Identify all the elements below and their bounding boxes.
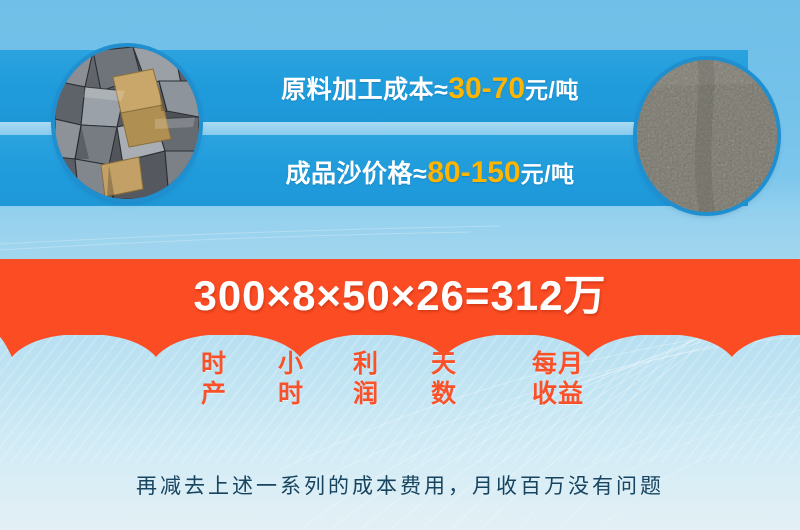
sand-price-prefix: 成品沙价格≈ — [285, 160, 427, 188]
legend-row: 时 产 小 时 利 润 天 数 每月 收益 — [0, 345, 800, 415]
formula-text: 300×8×50×26=312万 — [0, 259, 800, 333]
infographic-poster: 原料加工成本≈30-70元/吨 成品沙价格≈80-150元/吨 — [0, 0, 800, 530]
legend-item-monthly-revenue-line1: 每月 — [512, 349, 604, 379]
info-bar-raw-cost-text: 原料加工成本≈30-70元/吨 — [195, 70, 665, 106]
sand-price-unit: 元/吨 — [521, 161, 575, 187]
legend-item-profit-line1: 利 — [335, 349, 397, 379]
legend-item-hourly-output: 时 产 — [183, 349, 245, 409]
raw-cost-value: 30-70 — [448, 72, 525, 105]
legend-item-profit-line2: 润 — [335, 379, 397, 409]
raw-cost-prefix: 原料加工成本≈ — [281, 76, 448, 104]
legend-item-days: 天 数 — [413, 349, 475, 409]
legend-item-hours-line2: 时 — [260, 379, 322, 409]
legend-item-hourly-output-line2: 产 — [183, 379, 245, 409]
finished-sand-photo — [637, 60, 777, 212]
raw-stone-photo — [55, 47, 199, 199]
legend-item-days-line2: 数 — [413, 379, 475, 409]
legend-item-days-line1: 天 — [413, 349, 475, 379]
legend-item-monthly-revenue: 每月 收益 — [512, 349, 604, 409]
sand-price-value: 80-150 — [427, 156, 520, 189]
bottom-caption: 再减去上述一系列的成本费用，月收百万没有问题 — [0, 470, 800, 500]
raw-cost-unit: 元/吨 — [525, 77, 579, 103]
legend-item-profit: 利 润 — [335, 349, 397, 409]
legend-item-hours: 小 时 — [260, 349, 322, 409]
legend-item-monthly-revenue-line2: 收益 — [512, 379, 604, 409]
legend-item-hourly-output-line1: 时 — [183, 349, 245, 379]
legend-item-hours-line1: 小 — [260, 349, 322, 379]
info-bar-sand-price-text: 成品沙价格≈80-150元/吨 — [195, 154, 665, 190]
